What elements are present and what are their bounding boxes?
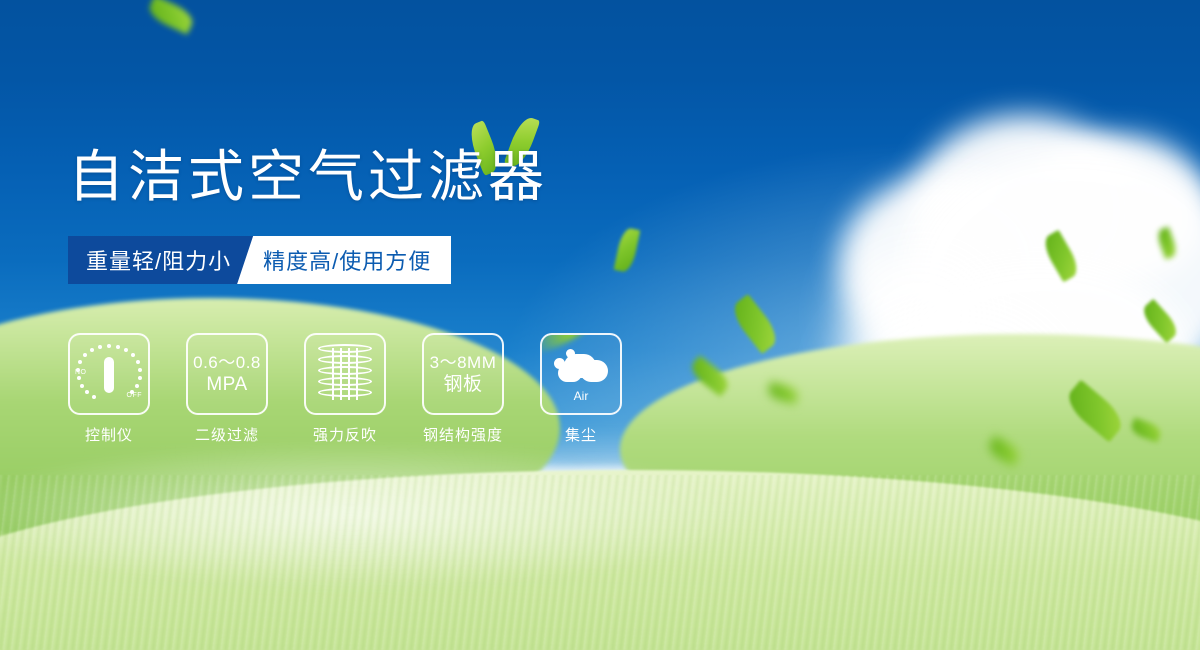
subtitle-badge: 重量轻/阻力小 精度高/使用方便	[68, 236, 451, 284]
gauge-label-off: OFF	[127, 392, 143, 399]
product-banner: 自洁式空气过滤器 重量轻/阻力小 精度高/使用方便	[0, 0, 1200, 650]
pressure-range-text: 0.6～0.8	[193, 352, 261, 373]
gauge-label-no: NO	[75, 369, 87, 376]
feature-badge-pressure: 0.6～0.8 MPA	[186, 333, 268, 415]
feature-item-pressure: 0.6～0.8 MPA 二级过滤	[186, 333, 268, 445]
floating-leaf-1	[146, 0, 197, 35]
feature-label-steel: 钢结构强度	[423, 424, 503, 445]
air-label: Air	[550, 389, 612, 403]
feature-label-dust: 集尘	[565, 424, 597, 445]
gauge-dial-icon: NO OFF	[76, 343, 142, 405]
gauge-needle	[104, 357, 114, 393]
feature-badge-blowback	[304, 333, 386, 415]
steel-thickness-text: 3～8MM	[430, 352, 497, 373]
feature-item-steel: 3～8MM 钢板 钢结构强度	[422, 333, 504, 445]
feature-label-pressure: 二级过滤	[195, 424, 259, 445]
subtitle-left: 重量轻/阻力小	[68, 236, 253, 284]
floating-leaf-3	[728, 294, 783, 354]
feature-badge-dust: Air	[540, 333, 622, 415]
grass-texture	[0, 475, 1200, 650]
feature-label-blowback: 强力反吹	[313, 424, 377, 445]
feature-badge-steel: 3～8MM 钢板	[422, 333, 504, 415]
steel-plate-text: 钢板	[443, 373, 482, 396]
feature-item-blowback: 强力反吹	[304, 333, 386, 445]
subtitle-right: 精度高/使用方便	[237, 236, 451, 284]
pressure-unit-text: MPA	[206, 373, 247, 396]
air-cloud-icon: Air	[550, 346, 612, 402]
filter-coil-icon	[318, 344, 372, 404]
cloud-puff-2	[580, 360, 608, 382]
feature-item-controller: NO OFF 控制仪	[68, 333, 150, 445]
feature-badge-controller: NO OFF	[68, 333, 150, 415]
feature-label-controller: 控制仪	[85, 424, 133, 445]
feature-list: NO OFF 控制仪 0.6～0.8 MPA 二级过滤	[68, 333, 622, 445]
page-title: 自洁式空气过滤器	[68, 145, 548, 209]
feature-item-dust: Air 集尘	[540, 333, 622, 445]
cloud-puff-3	[558, 364, 582, 382]
floating-leaf-2	[614, 227, 641, 274]
